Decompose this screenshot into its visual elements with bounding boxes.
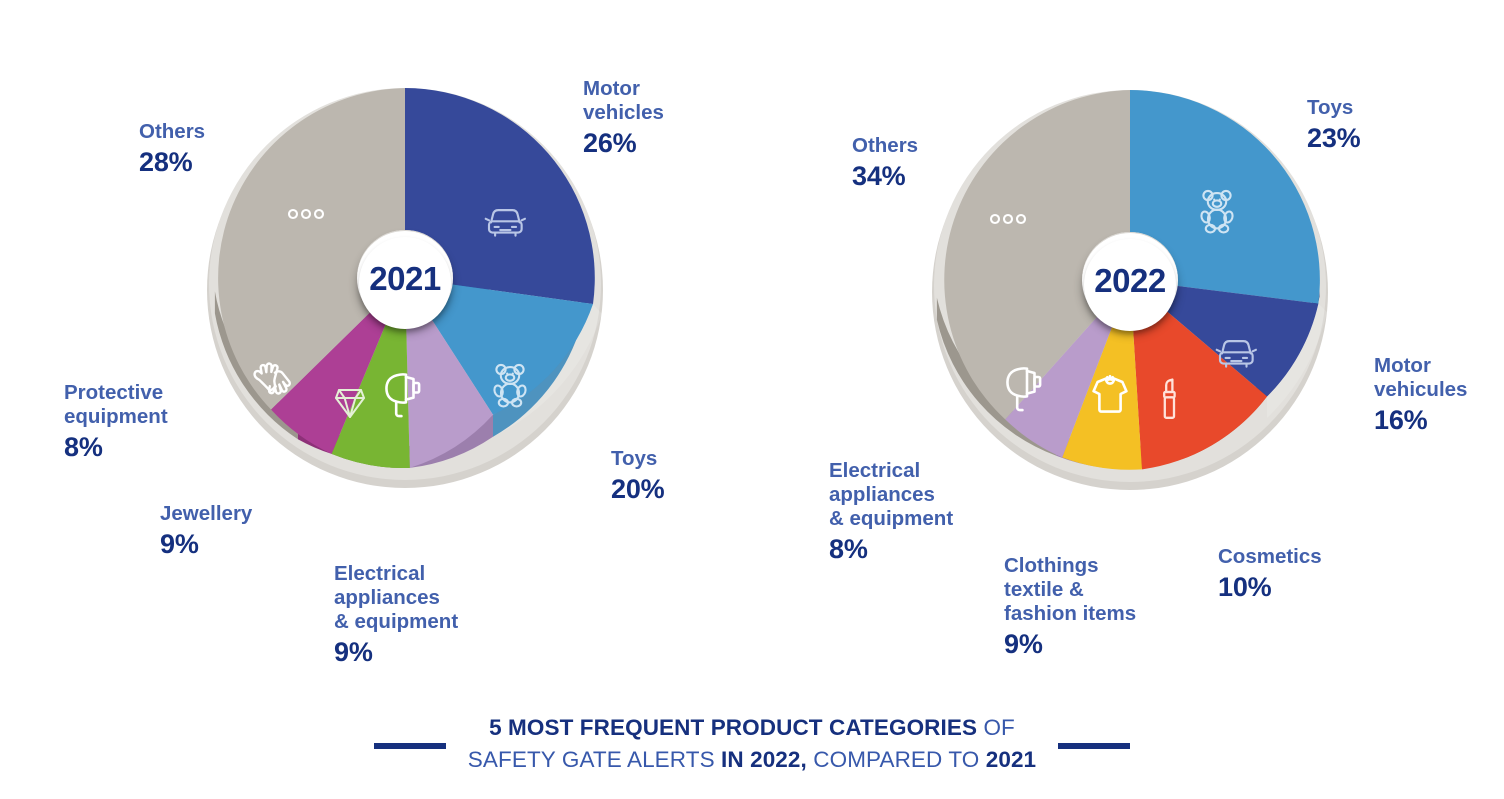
label-others-2022: Others 34% xyxy=(852,110,918,217)
label-name: Others xyxy=(139,120,205,143)
pie-chart-2021: 2021 Others 28% Motor vehicles 26% Toys … xyxy=(0,0,752,700)
label-name: Motor vehicules xyxy=(1374,354,1467,401)
label-percent: 34% xyxy=(852,161,918,193)
year-label: 2022 xyxy=(1094,264,1165,297)
label-name: Toys xyxy=(611,447,657,470)
caption-rule-right xyxy=(1058,743,1130,749)
caption-text: 5 MOST FREQUENT PRODUCT CATEGORIES OF SA… xyxy=(468,712,1036,776)
label-toys-2021: Toys 20% xyxy=(611,423,664,530)
caption-part-b: COMPARED TO xyxy=(807,747,986,772)
caption: 5 MOST FREQUENT PRODUCT CATEGORIES OF SA… xyxy=(0,712,1504,776)
label-name: Jewellery xyxy=(160,502,252,525)
caption-rule-left xyxy=(374,743,446,749)
label-toys-2022: Toys 23% xyxy=(1307,72,1360,179)
label-electrical-appliances-2022: Electrical appliances & equipment 8% xyxy=(829,435,953,590)
pie-chart-2022: 2022 Others 34% Toys 23% Motor vehicules… xyxy=(752,0,1504,700)
year-label: 2021 xyxy=(369,262,440,295)
label-name: Protective equipment xyxy=(64,381,168,428)
label-percent: 8% xyxy=(64,432,168,464)
caption-line-2: SAFETY GATE ALERTS IN 2022, COMPARED TO … xyxy=(468,744,1036,776)
label-clothings-2022: Clothings textile & fashion items 9% xyxy=(1004,530,1136,685)
label-name: Clothings textile & fashion items xyxy=(1004,554,1136,625)
label-percent: 9% xyxy=(1004,629,1136,661)
label-electrical-appliances-2021: Electrical appliances & equipment 9% xyxy=(334,538,458,693)
pie-2021-graphic: 2021 xyxy=(205,78,605,498)
label-name: Electrical appliances & equipment xyxy=(829,459,953,530)
caption-part-a: SAFETY GATE ALERTS xyxy=(468,747,721,772)
label-name: Motor vehicles xyxy=(583,77,664,124)
infographic-stage: 2021 Others 28% Motor vehicles 26% Toys … xyxy=(0,0,1504,799)
caption-strong-2: IN 2022, xyxy=(721,747,807,772)
label-cosmetics-2022: Cosmetics 10% xyxy=(1218,521,1322,628)
label-percent: 23% xyxy=(1307,123,1360,155)
label-percent: 16% xyxy=(1374,405,1467,437)
label-percent: 26% xyxy=(583,128,664,160)
label-percent: 20% xyxy=(611,474,664,506)
label-motor-vehicles-2022: Motor vehicules 16% xyxy=(1374,330,1467,461)
label-percent: 9% xyxy=(334,637,458,669)
label-name: Toys xyxy=(1307,96,1353,119)
label-jewellery-2021: Jewellery 9% xyxy=(160,478,252,585)
label-name: Others xyxy=(852,134,918,157)
label-percent: 8% xyxy=(829,534,953,566)
label-name: Cosmetics xyxy=(1218,545,1322,568)
year-badge-2022: 2022 xyxy=(1082,232,1178,328)
year-badge-2021: 2021 xyxy=(357,230,453,326)
caption-strong-1: 5 MOST FREQUENT PRODUCT CATEGORIES xyxy=(489,715,977,740)
caption-rest-1: OF xyxy=(977,715,1015,740)
label-percent: 28% xyxy=(139,147,205,179)
pie-2022-graphic: 2022 xyxy=(930,80,1330,500)
label-others-2021: Others 28% xyxy=(139,96,205,203)
caption-line-1: 5 MOST FREQUENT PRODUCT CATEGORIES OF xyxy=(468,712,1036,744)
label-motor-vehicles-2021: Motor vehicles 26% xyxy=(583,53,664,184)
label-percent: 9% xyxy=(160,529,252,561)
label-name: Electrical appliances & equipment xyxy=(334,562,458,633)
caption-strong-3: 2021 xyxy=(986,747,1036,772)
label-protective-equipment-2021: Protective equipment 8% xyxy=(64,357,168,488)
label-percent: 10% xyxy=(1218,572,1322,604)
